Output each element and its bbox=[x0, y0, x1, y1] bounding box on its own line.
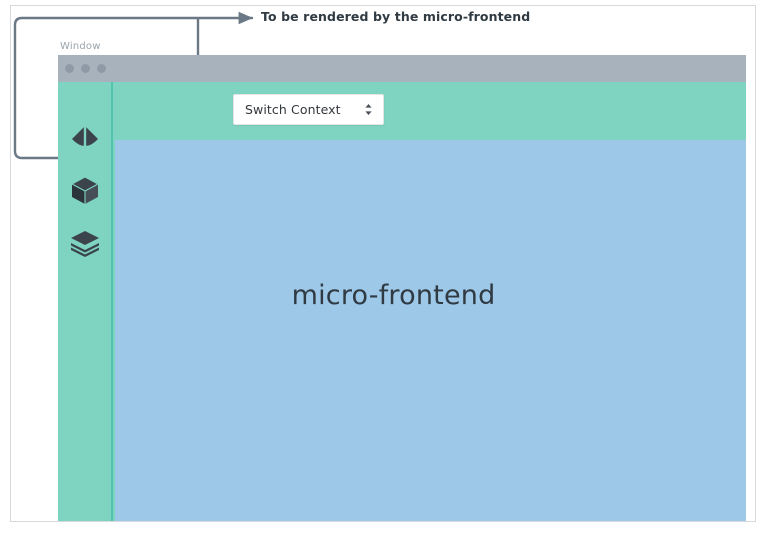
micro-frontend-label: micro-frontend bbox=[292, 280, 496, 311]
diagram-canvas: To be rendered by the micro-frontend Win… bbox=[0, 0, 768, 535]
app-sidebar bbox=[58, 82, 113, 521]
traffic-lights bbox=[65, 64, 106, 73]
cube-icon bbox=[69, 174, 101, 211]
switch-context-value: Switch Context bbox=[245, 102, 364, 117]
window-caption: Window bbox=[60, 41, 101, 52]
close-dot[interactable] bbox=[65, 64, 74, 73]
micro-frontend-panel: micro-frontend bbox=[115, 140, 746, 521]
layers-icon bbox=[69, 226, 101, 263]
app-toolbar: Switch Context bbox=[113, 82, 746, 140]
sidebar-item-cube[interactable] bbox=[66, 173, 104, 211]
annotation-label: To be rendered by the micro-frontend bbox=[261, 9, 530, 24]
minimize-dot[interactable] bbox=[81, 64, 90, 73]
window-titlebar bbox=[58, 55, 746, 82]
sidebar-item-diamond[interactable] bbox=[66, 121, 104, 159]
browser-window: Switch Context micro-frontend bbox=[58, 55, 746, 521]
stepper-updown-icon bbox=[364, 103, 373, 116]
switch-context-select[interactable]: Switch Context bbox=[233, 94, 384, 125]
window-body: Switch Context micro-frontend bbox=[58, 82, 746, 521]
maximize-dot[interactable] bbox=[97, 64, 106, 73]
diamond-icon bbox=[68, 121, 102, 160]
sidebar-item-layers[interactable] bbox=[66, 225, 104, 263]
